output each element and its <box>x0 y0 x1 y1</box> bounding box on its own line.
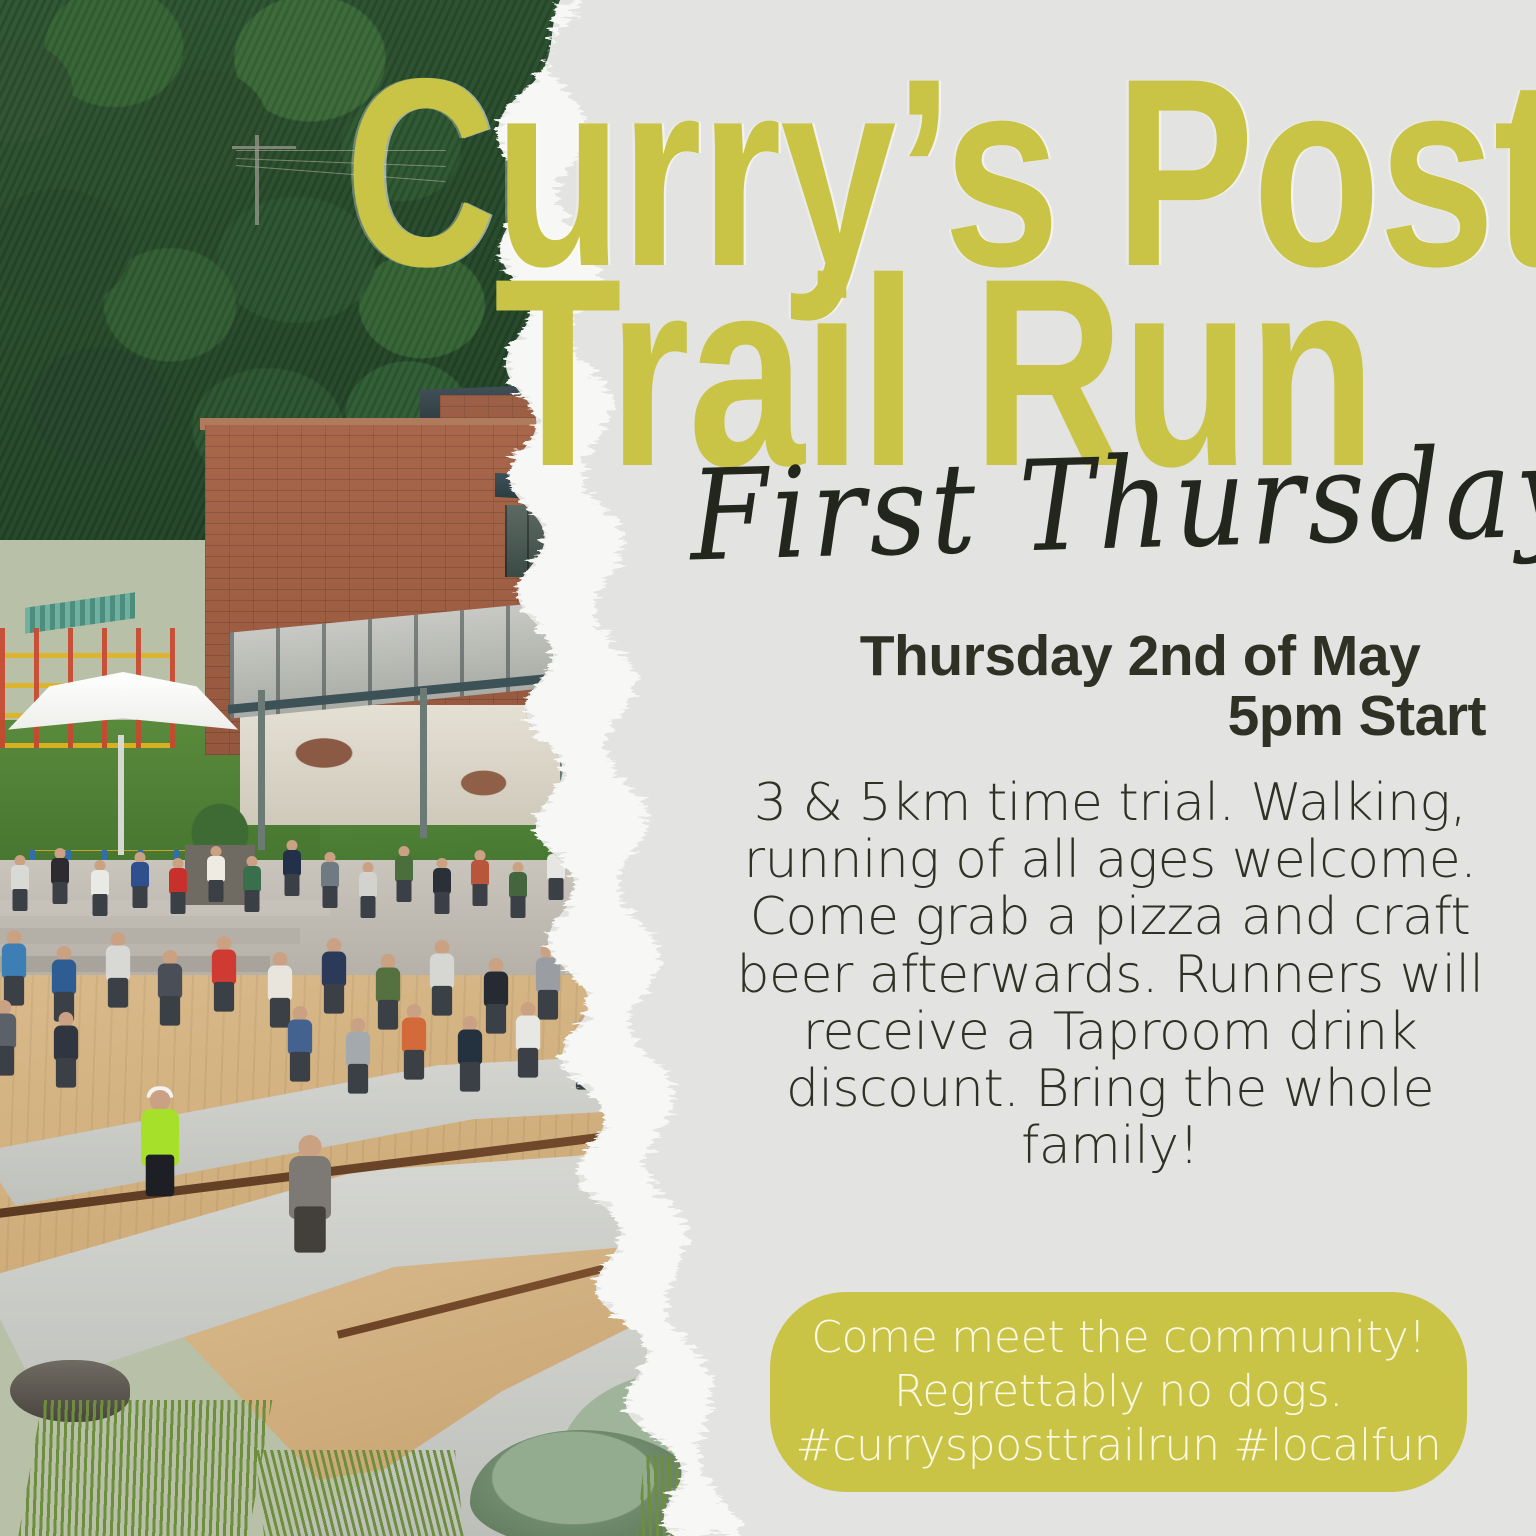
building-window <box>505 505 755 577</box>
event-date: Thursday 2nd of May <box>860 624 1421 688</box>
cta-line-2: Regrettably no dogs. <box>894 1366 1343 1417</box>
poster-title-line-2: Trail Run <box>494 252 1374 493</box>
power-line <box>236 150 446 151</box>
event-photo <box>0 0 830 1536</box>
terrace-step <box>0 928 300 944</box>
cta-line-1: Come meet the community! <box>811 1312 1426 1363</box>
pergola-post <box>258 690 265 850</box>
power-pole-arm <box>232 146 296 149</box>
script-subtitle: First Thursday <box>688 419 1536 589</box>
terrace-step <box>0 900 330 916</box>
whitewashed-wall <box>240 705 660 825</box>
pergola-post <box>560 690 567 840</box>
glass-doors <box>612 790 762 945</box>
grass-tuft <box>255 1450 465 1536</box>
pergola-post <box>690 695 697 835</box>
umbrella-pole <box>118 735 124 855</box>
pergola-post <box>420 688 427 838</box>
cta-callout-box: Come meet the community! Regrettably no … <box>770 1292 1467 1492</box>
cta-hashtags: #currysposttrailrun #localfun <box>796 1420 1442 1471</box>
cta-callout-text: Come meet the community! Regrettably no … <box>774 1311 1464 1472</box>
grass-tuft <box>18 1400 273 1536</box>
event-date-heading: Thursday 2nd of May 5pm Start <box>780 626 1500 747</box>
poster-canvas: Curry’s Post Trail Run First Thursday Th… <box>0 0 1536 1536</box>
awning <box>495 473 765 511</box>
event-start-time: 5pm Start <box>780 686 1500 746</box>
event-description: 3 & 5km time trial. Walking, running of … <box>700 775 1520 1175</box>
